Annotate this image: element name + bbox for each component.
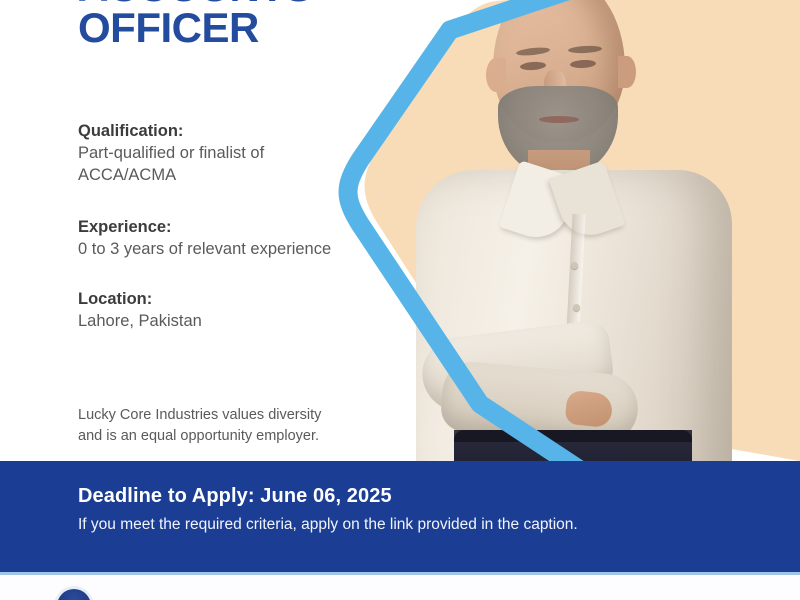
deadline-banner: Deadline to Apply: June 06, 2025 If you … xyxy=(0,461,800,572)
field-experience: Experience: 0 to 3 years of relevant exp… xyxy=(78,216,331,261)
footer-strip xyxy=(0,575,800,600)
field-location-value-line1: Lahore, Pakistan xyxy=(78,311,202,333)
page-title: ACCOUNTS OFFICER xyxy=(78,0,312,48)
deadline-text: Deadline to Apply: June 06, 2025 xyxy=(78,483,578,509)
field-experience-label: Experience: xyxy=(78,216,331,238)
diversity-line-2: and is an equal opportunity employer. xyxy=(78,426,321,447)
field-experience-value-line1: 0 to 3 years of relevant experience xyxy=(78,239,331,261)
artwork-panel xyxy=(330,0,800,461)
apply-instruction-text: If you meet the required criteria, apply… xyxy=(78,514,578,536)
field-qualification-value-line1: Part-qualified or finalist of xyxy=(78,143,264,165)
field-qualification: Qualification: Part-qualified or finalis… xyxy=(78,120,264,187)
field-location-label: Location: xyxy=(78,288,202,310)
diversity-statement: Lucky Core Industries values diversity a… xyxy=(78,405,321,447)
field-location: Location: Lahore, Pakistan xyxy=(78,288,202,333)
lucky-core-industries-logo-icon xyxy=(57,589,91,600)
field-qualification-value-line2: ACCA/ACMA xyxy=(78,165,264,187)
diversity-line-1: Lucky Core Industries values diversity xyxy=(78,405,321,426)
chevron-stroke xyxy=(330,0,800,461)
field-qualification-label: Qualification: xyxy=(78,120,264,142)
title-line-2: OFFICER xyxy=(78,7,312,48)
deadline-banner-content: Deadline to Apply: June 06, 2025 If you … xyxy=(78,483,578,536)
